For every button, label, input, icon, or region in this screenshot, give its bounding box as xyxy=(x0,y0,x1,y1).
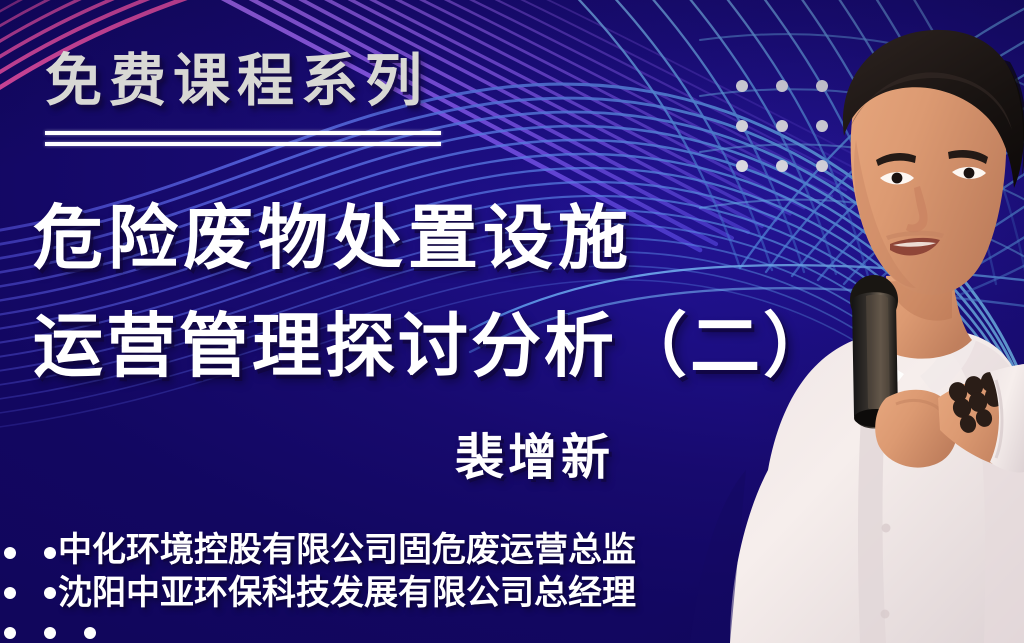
course-poster: 免费课程系列 危险废物处置设施 运营管理探讨分析（二） 裴增新 中化环境控股有限… xyxy=(0,0,1024,643)
speaker-credential-1: 中化环境控股有限公司固危废运营总监 xyxy=(58,531,636,571)
page-title-line-1: 危险废物处置设施 xyxy=(33,197,633,283)
divider-line-bottom xyxy=(45,142,441,146)
page-title-line-2: 运营管理探讨分析（二） xyxy=(33,305,836,391)
speaker-name: 裴增新 xyxy=(455,428,614,488)
divider-line-top xyxy=(45,131,441,135)
page-kicker: 免费课程系列 xyxy=(45,48,429,116)
speaker-credential-2: 沈阳中亚环保科技发展有限公司总经理 xyxy=(58,574,636,614)
